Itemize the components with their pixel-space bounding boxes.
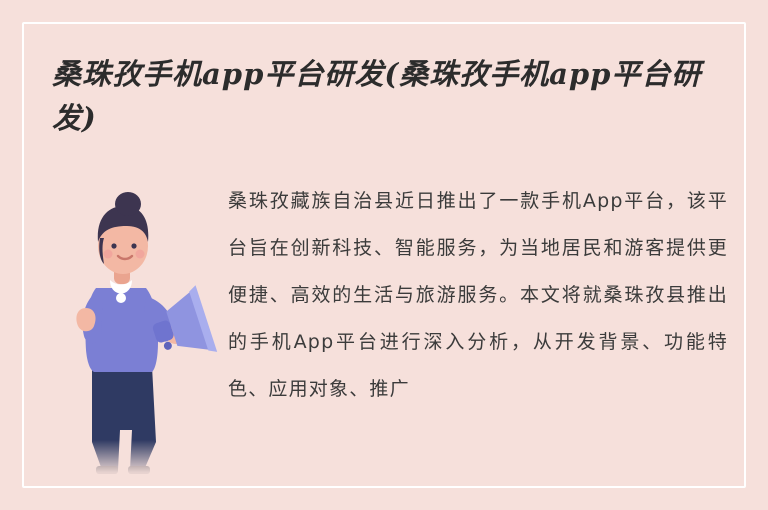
page-title: 桑珠孜手机app平台研发(桑珠孜手机app平台研发): [52, 52, 722, 140]
woman-with-megaphone-illustration: [48, 180, 218, 480]
document-page: 桑珠孜手机app平台研发(桑珠孜手机app平台研发): [0, 0, 768, 510]
article-body: 桑珠孜藏族自治县近日推出了一款手机App平台，该平台旨在创新科技、智能服务，为当…: [228, 178, 728, 478]
article-content: 桑珠孜手机app平台研发(桑珠孜手机app平台研发): [0, 0, 768, 510]
